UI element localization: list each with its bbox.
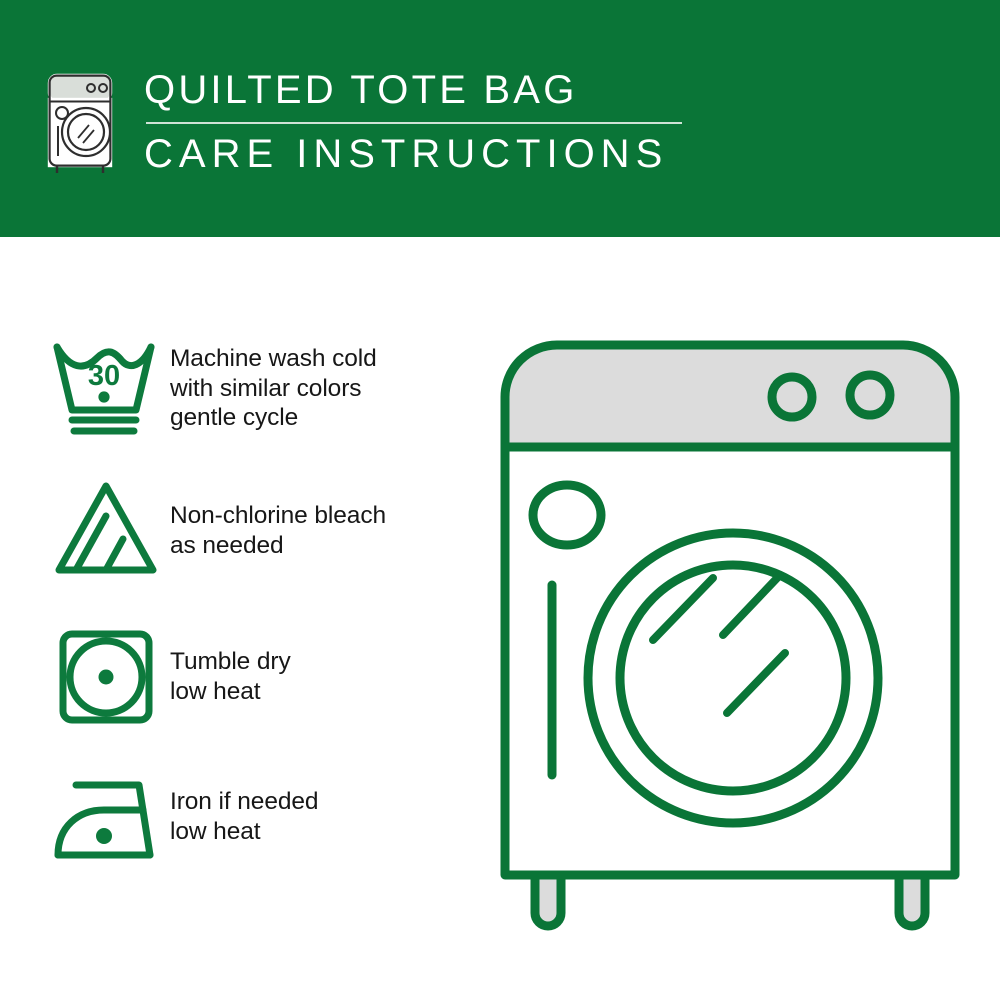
care-text-line: gentle cycle <box>170 403 377 433</box>
care-item-tumble-dry: Tumble dry low heat <box>50 627 470 769</box>
care-text-line: Tumble dry <box>170 647 291 677</box>
cabinet-body <box>505 447 955 875</box>
care-text-line: as needed <box>170 531 386 561</box>
tumble-dry-icon <box>50 627 170 727</box>
care-item-bleach: Non-chlorine bleach as needed <box>50 479 470 627</box>
care-text-line: Non-chlorine bleach <box>170 501 386 531</box>
care-item-text: Iron if needed low heat <box>170 769 318 846</box>
care-text-line: low heat <box>170 817 318 847</box>
care-item-iron: Iron if needed low heat <box>50 769 470 889</box>
care-item-machine-wash: 30 Machine wash cold with similar colors… <box>50 337 470 479</box>
wash-tub-30-icon: 30 <box>50 337 170 437</box>
care-item-text: Tumble dry low heat <box>170 627 291 706</box>
care-text-line: Machine wash cold <box>170 344 377 374</box>
bleach-triangle-icon <box>50 479 170 579</box>
care-text-line: Iron if needed <box>170 787 318 817</box>
care-item-text: Machine wash cold with similar colors ge… <box>170 337 377 433</box>
care-text-line: low heat <box>170 677 291 707</box>
content-area: 30 Machine wash cold with similar colors… <box>0 237 1000 1000</box>
care-instruction-list: 30 Machine wash cold with similar colors… <box>50 337 470 889</box>
header-banner: QUILTED TOTE BAG CARE INSTRUCTIONS <box>0 0 1000 237</box>
header-title-block: QUILTED TOTE BAG CARE INSTRUCTIONS <box>144 66 764 178</box>
front-load-washing-machine-illustration <box>495 335 965 935</box>
foot-right <box>899 875 925 926</box>
care-text-line: with similar colors <box>170 374 377 404</box>
foot-left <box>535 875 561 926</box>
title-divider <box>146 122 682 124</box>
page-title: QUILTED TOTE BAG <box>144 66 764 114</box>
washing-machine-icon <box>45 72 123 176</box>
wash-temperature-label: 30 <box>88 360 120 392</box>
care-item-text: Non-chlorine bleach as needed <box>170 479 386 560</box>
page-subtitle: CARE INSTRUCTIONS <box>144 131 764 178</box>
iron-icon <box>50 769 170 869</box>
